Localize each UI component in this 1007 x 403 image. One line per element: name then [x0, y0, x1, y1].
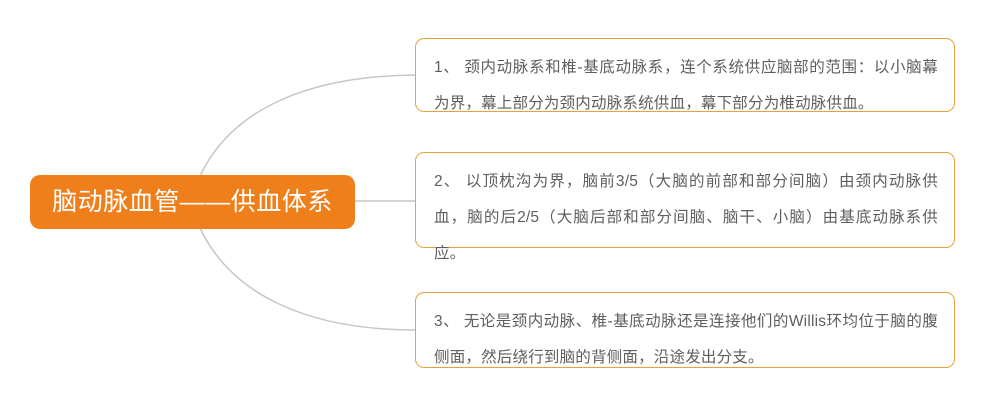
- root-node-label: 脑动脉血管——供血体系: [52, 190, 333, 215]
- branch-node-3[interactable]: 3、 无论是颈内动脉、椎-基底动脉还是连接他们的Willis环均位于脑的腹侧面，…: [415, 292, 955, 368]
- mindmap-canvas: 脑动脉血管——供血体系 1、 颈内动脉系和椎-基底动脉系，连个系统供应脑部的范围…: [0, 0, 1007, 403]
- connector-root-to-branch-3: [200, 228, 415, 330]
- branch-node-3-text: 3、 无论是颈内动脉、椎-基底动脉还是连接他们的Willis环均位于脑的腹侧面，…: [434, 304, 938, 376]
- branch-node-1-text: 1、 颈内动脉系和椎-基底动脉系，连个系统供应脑部的范围：以小脑幕为界，幕上部分…: [434, 50, 938, 122]
- connector-root-to-branch-1: [200, 75, 415, 176]
- root-node[interactable]: 脑动脉血管——供血体系: [30, 175, 355, 229]
- branch-node-1[interactable]: 1、 颈内动脉系和椎-基底动脉系，连个系统供应脑部的范围：以小脑幕为界，幕上部分…: [415, 38, 955, 112]
- branch-node-2-text: 2、 以顶枕沟为界，脑前3/5（大脑的前部和部分间脑）由颈内动脉供血，脑的后2/…: [434, 164, 938, 272]
- branch-node-2[interactable]: 2、 以顶枕沟为界，脑前3/5（大脑的前部和部分间脑）由颈内动脉供血，脑的后2/…: [415, 152, 955, 248]
